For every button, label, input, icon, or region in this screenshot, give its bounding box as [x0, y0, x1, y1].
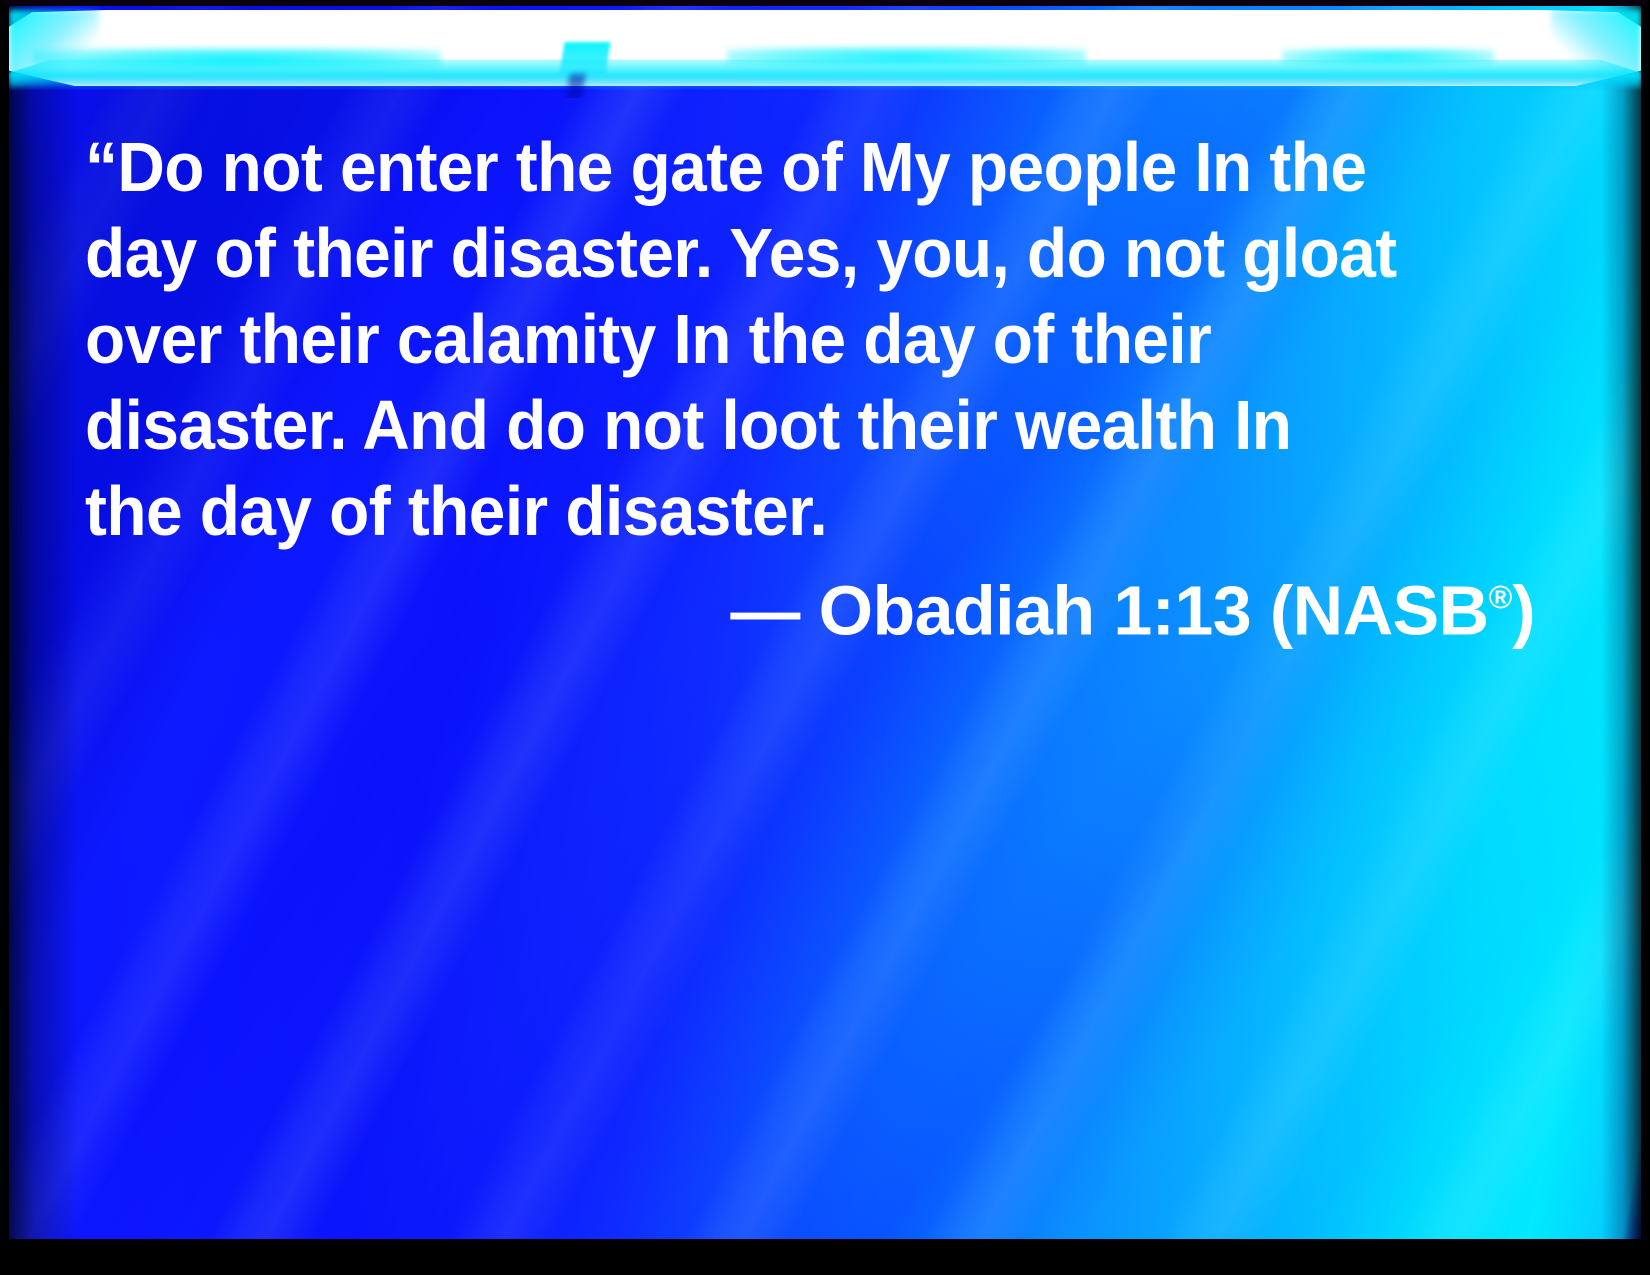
scripture-slide: “Do not enter the gate of My people In t… [0, 0, 1650, 1275]
slide-canvas: “Do not enter the gate of My people In t… [9, 6, 1641, 1239]
verse-line-3: over their calamity In the day of their [85, 296, 1448, 382]
background-left-edge-shade [9, 6, 79, 1239]
verse-text-block: “Do not enter the gate of My people In t… [85, 124, 1535, 554]
top-band-corner-glow-right [1551, 10, 1641, 86]
attribution-translation-close: ) [1512, 571, 1535, 649]
top-highlight-band [9, 6, 1641, 98]
top-band-cyan-streak-right [1282, 48, 1494, 66]
verse-line-1: “Do not enter the gate of My people In t… [85, 124, 1448, 210]
verse-line-5: the day of their disaster. [85, 468, 1448, 554]
attribution-reference: 1:13 [1113, 571, 1251, 649]
attribution-book: Obadiah [819, 571, 1095, 649]
verse-attribution: — Obadiah 1:13 (NASB®) [85, 554, 1535, 653]
registered-trademark-icon: ® [1489, 579, 1513, 615]
top-band-corner-glow-left [9, 10, 99, 86]
top-band-cyan-streak-center [727, 47, 1086, 67]
verse-line-2: day of their disaster. Yes, you, do not … [85, 210, 1448, 296]
background-right-edge-shade [1601, 6, 1641, 1239]
verse-line-4: disaster. And do not loot their wealth I… [85, 382, 1448, 468]
attribution-em-dash: — [730, 571, 799, 649]
top-band-cyan-notch [559, 42, 610, 74]
attribution-translation-open: (NASB [1270, 571, 1489, 649]
